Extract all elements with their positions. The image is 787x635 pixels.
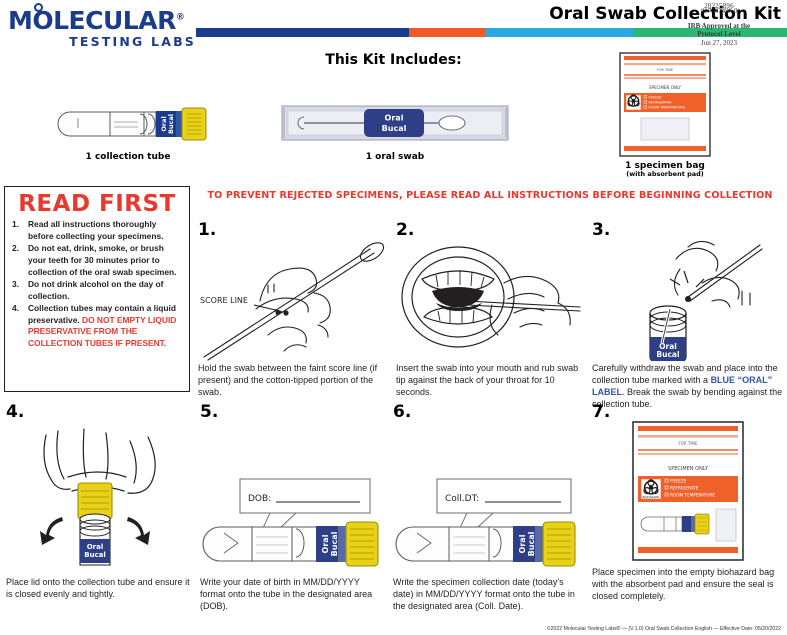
irb-approval-stamp: 20225896 #17567496 0 IRB Approved at the…: [659, 2, 779, 47]
step-number: 7.: [592, 404, 784, 421]
step-caption: Write the specimen collection date (toda…: [393, 577, 583, 613]
step-3: 3.: [592, 222, 784, 411]
footer-copyright: ©2022 Molecular Testing Labs® — (V.1.0) …: [0, 626, 781, 632]
bag-option-room-temp: ROOM TEMPERATURE: [670, 492, 715, 497]
tube-label-line2: Bucal: [527, 531, 536, 556]
rule-segment-orange: [409, 28, 486, 37]
dob-label: DOB:: [248, 494, 271, 504]
brand-logo: MOLECULAR® TESTING LABS: [8, 8, 198, 49]
tube-illustration: Oral Bucal: [650, 306, 686, 361]
step-illustration: Oral Bucal: [592, 239, 784, 361]
kit-item-caption: 1 specimen bag (with absorbent pad): [600, 161, 730, 178]
step-caption: Hold the swab between the faint score li…: [198, 363, 388, 399]
kit-item-caption: 1 oral swab: [280, 152, 510, 162]
tube-label-line2: Bucal: [167, 114, 175, 134]
item-number: 1.: [12, 219, 19, 231]
step-illustration: Coll.DT:: [393, 421, 583, 571]
irb-date: Jun 27, 2023: [659, 39, 779, 47]
bag-option-freeze: FREEZE: [670, 478, 686, 483]
item-number: 2.: [12, 243, 19, 255]
item-text: Do not drink alcohol on the day of colle…: [28, 279, 163, 301]
page-header: MOLECULAR® TESTING LABS Oral Swab Collec…: [0, 0, 787, 52]
bag-option-freeze: FREEZE: [649, 95, 662, 99]
tube-illustration: Oral Bucal: [78, 483, 112, 565]
step-caption: Place lid onto the collection tube and e…: [6, 577, 192, 601]
bag-option-refrigerate: REFRIGERATE: [649, 100, 672, 104]
bag-top-label: FOR TIME: [657, 68, 673, 72]
step-number: 5.: [200, 404, 386, 421]
tube-illustration: Oral Bucal: [203, 522, 378, 566]
score-line-arrow: [254, 305, 284, 315]
specimen-bag-illustration: FOR TIME SPECIMEN ONLY FREEZE REFRIGERAT…: [619, 52, 711, 157]
tube-label-line2: Bucal: [84, 551, 106, 559]
read-first-item: 1. Read all instructions thoroughly befo…: [11, 219, 183, 243]
step-1: 1.: [198, 222, 388, 399]
bag-option-refrigerate: REFRIGERATE: [670, 485, 699, 490]
kit-item-specimen-bag: FOR TIME SPECIMEN ONLY FREEZE REFRIGERAT…: [600, 52, 730, 178]
read-first-box: READ FIRST 1. Read all instructions thor…: [4, 186, 190, 392]
step-caption: Place specimen into the empty biohazard …: [592, 567, 784, 603]
logo-circle-icon: [34, 3, 43, 12]
item-text: Read all instructions thoroughly before …: [28, 219, 163, 241]
rule-segment-cyan: [486, 28, 634, 37]
absorbent-pad: [716, 509, 736, 541]
biohazard-word: BIOHAZARD: [643, 495, 660, 499]
read-first-list: 1. Read all instructions thoroughly befo…: [11, 219, 183, 350]
read-first-item: 2. Do not eat, drink, smoke, or brush yo…: [11, 243, 183, 279]
step-illustration: DOB:: [200, 421, 386, 571]
tube-label-line1: Oral: [518, 534, 527, 553]
document-page: MOLECULAR® TESTING LABS Oral Swab Collec…: [0, 0, 787, 635]
tube-label-line1: Oral: [321, 534, 330, 553]
throat-shape: [432, 287, 484, 307]
item-text: Do not eat, drink, smoke, or brush your …: [28, 243, 176, 277]
irb-number-overlay: #17567496 0: [659, 7, 779, 15]
kit-item-subcaption: (with absorbent pad): [600, 170, 730, 178]
absorbent-pad: [641, 118, 689, 140]
read-first-title: READ FIRST: [11, 192, 183, 216]
bag-option-room-temp: ROOM TEMPERATURE: [649, 106, 685, 110]
brand-name-main: MOLECULAR®: [8, 8, 198, 33]
item-number: 3.: [12, 279, 19, 291]
score-line-label: SCORE LINE: [200, 296, 248, 305]
swab-label-line2: Bucal: [382, 124, 407, 133]
tube-label-line2: Bucal: [330, 531, 339, 556]
brand-name-text: MOLECULAR: [8, 6, 176, 35]
tube-inside-bag: [641, 514, 709, 534]
bag-top-label: FOR TIME: [678, 441, 698, 446]
step-caption: Insert the swab into your mouth and rub …: [396, 363, 584, 399]
step-illustration: Oral Bucal: [6, 421, 192, 571]
step-number: 3.: [592, 222, 784, 239]
collection-tube-illustration: Oral Bucal: [48, 100, 208, 148]
item-number: 4.: [12, 303, 19, 315]
bag-specimen-only: SPECIMEN ONLY: [649, 85, 682, 90]
read-first-item: 3. Do not drink alcohol on the day of co…: [11, 279, 183, 303]
hand-capping-tube-icon: Oral Bucal: [6, 421, 192, 571]
step-5: 5. DOB:: [200, 404, 386, 613]
bag-specimen-only: SPECIMEN ONLY: [668, 466, 709, 472]
step-number: 6.: [393, 404, 583, 421]
kit-item-caption: 1 collection tube: [48, 152, 208, 162]
specimen-bag-filled-icon: FOR TIME SPECIMEN ONLY BIOHAZARD FREEZE: [632, 421, 744, 561]
irb-line-1: IRB Approved at the: [659, 22, 779, 30]
step-number: 2.: [396, 222, 584, 239]
kit-item-collection-tube: Oral Bucal 1 collection tube: [48, 100, 208, 162]
step-4: 4.: [6, 404, 192, 601]
score-line-point: [283, 310, 288, 315]
step-number: 4.: [6, 404, 192, 421]
warning-banner: TO PREVENT REJECTED SPECIMENS, PLEASE RE…: [196, 190, 784, 201]
read-first-item: 4. Collection tubes may contain a liquid…: [11, 303, 183, 351]
tube-illustration: Oral Bucal: [396, 522, 575, 566]
step-illustration: FOR TIME SPECIMEN ONLY BIOHAZARD FREEZE: [592, 421, 784, 561]
caption-blue-1: BLUE: [711, 375, 736, 385]
step-2: 2.: [396, 222, 584, 399]
oral-swab-illustration: Oral Bucal: [280, 98, 510, 148]
irb-line-2: Protocol Level: [659, 30, 779, 38]
colldt-label: Coll.DT:: [445, 494, 479, 504]
step-6: 6. Coll.DT:: [393, 404, 583, 613]
tube-label-line2: Bucal: [656, 350, 679, 359]
rule-segment-navy: [196, 28, 409, 37]
brand-name-sub: TESTING LABS: [8, 34, 198, 49]
step-illustration: SCORE LINE: [198, 239, 388, 361]
tube-label-line1: Oral: [87, 543, 104, 551]
registered-mark: ®: [176, 13, 185, 23]
step-7: 7. FOR TIME SPECIMEN ONLY BIOHAZARD: [592, 404, 784, 603]
tube-dob-label-icon: DOB:: [200, 421, 386, 571]
kit-item-oral-swab: Oral Bucal 1 oral swab: [280, 98, 510, 162]
step-number: 1.: [198, 222, 388, 239]
swab-into-tube-icon: Oral Bucal: [592, 239, 784, 361]
tube-cap-icon: [182, 108, 206, 140]
swab-mouth-throat-icon: [396, 239, 584, 361]
swab-label-line1: Oral: [385, 114, 404, 123]
tube-collection-date-icon: Coll.DT:: [393, 421, 583, 571]
hand-holding-swab-icon: SCORE LINE: [198, 239, 388, 361]
step-illustration: [396, 239, 584, 361]
step-caption: Write your date of birth in MM/DD/YYYY f…: [200, 577, 386, 613]
